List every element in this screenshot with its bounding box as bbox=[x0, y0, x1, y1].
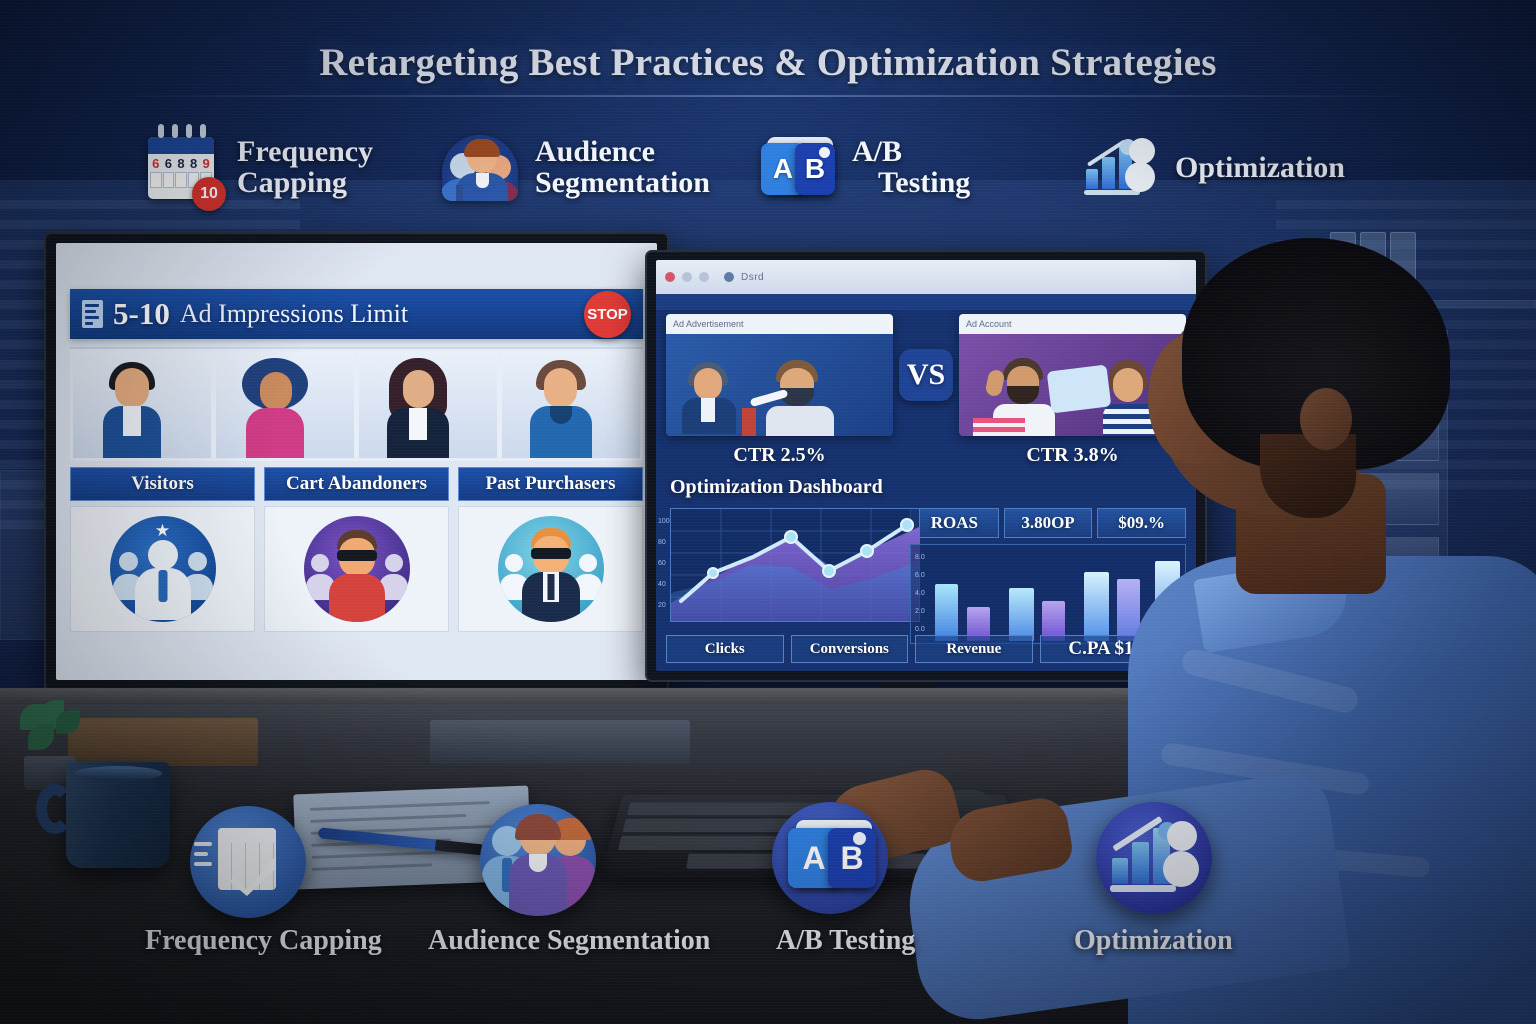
left-monitor: 5-10 Ad Impressions Limit STOP bbox=[44, 232, 669, 692]
calendar-digit: 6 bbox=[150, 156, 162, 171]
y-tick: 80 bbox=[658, 532, 670, 553]
bar bbox=[1009, 588, 1034, 641]
y-tick: 100 bbox=[658, 511, 670, 532]
ad-variant-a-image bbox=[666, 334, 893, 436]
y-tick: 60 bbox=[658, 553, 670, 574]
avatar-glasses-red-icon bbox=[304, 516, 410, 622]
bottom-label-optimization: Optimization bbox=[1074, 925, 1233, 957]
feature-label-line2: Segmentation bbox=[535, 168, 710, 199]
bottom-label-ab-testing: A/B Testing bbox=[776, 925, 915, 957]
browser-tab-label[interactable]: Dsrd bbox=[741, 272, 764, 283]
segment-avatar-cart-abandoners[interactable] bbox=[264, 506, 449, 632]
bottom-label-audience-segmentation: Audience Segmentation bbox=[428, 925, 710, 957]
y-tick: 8.0 bbox=[915, 549, 925, 567]
ctr-row: CTR 2.5% CTR 3.8% bbox=[666, 440, 1186, 470]
ab-letter-a: A bbox=[773, 153, 793, 185]
person-ear bbox=[1300, 388, 1352, 450]
stop-badge: STOP bbox=[584, 291, 631, 338]
feature-label-line2: Capping bbox=[237, 168, 373, 199]
frequency-cap-badge: 10 bbox=[192, 177, 226, 211]
metric-revenue[interactable]: Revenue bbox=[915, 635, 1033, 663]
metric-clicks[interactable]: Clicks bbox=[666, 635, 784, 663]
desk-box bbox=[430, 720, 690, 764]
title-band: Retargeting Best Practices & Optimizatio… bbox=[0, 18, 1536, 92]
calendar-dash-lines bbox=[194, 842, 212, 872]
bottom-label-frequency-capping: Frequency Capping bbox=[145, 925, 382, 957]
feature-frequency-capping[interactable]: 6 6 8 8 9 10 Frequ bbox=[140, 118, 373, 218]
browser-toolbar bbox=[656, 294, 1196, 310]
vs-badge: VS bbox=[899, 349, 953, 401]
feature-ab-testing[interactable]: A B A/B Testing bbox=[755, 118, 970, 218]
browser-dot-back[interactable] bbox=[682, 272, 692, 282]
feature-label-line1: Optimization bbox=[1175, 153, 1345, 184]
bar bbox=[1084, 572, 1109, 641]
dashboard-title: Optimization Dashboard bbox=[670, 476, 883, 499]
feature-label: A/B Testing bbox=[852, 137, 970, 199]
persona-strip bbox=[70, 347, 643, 461]
bottom-badge-row: A B bbox=[0, 796, 1536, 920]
right-monitor: Dsrd Ad Advertisement bbox=[645, 250, 1207, 682]
calendar-badge-icon: 6 6 8 8 9 10 bbox=[140, 129, 224, 207]
calendar-digit: 8 bbox=[175, 156, 187, 171]
browser-dot-red[interactable] bbox=[665, 272, 675, 282]
y-tick: 20 bbox=[658, 595, 670, 616]
bottom-label-row: Frequency Capping Audience Segmentation … bbox=[0, 925, 1536, 971]
metric-conversions[interactable]: Conversions bbox=[791, 635, 909, 663]
metric-row: Clicks Conversions Revenue C.PA $12.5 bbox=[666, 635, 1186, 663]
vs-divider: VS bbox=[893, 314, 959, 436]
desk-tray bbox=[68, 718, 258, 766]
optimization-gears-icon bbox=[1110, 826, 1202, 898]
line-chart-y-axis: 100 80 60 40 20 bbox=[658, 511, 670, 616]
impressions-limit-text: Ad Impressions Limit bbox=[180, 299, 408, 329]
badge-optimization[interactable] bbox=[1096, 802, 1212, 914]
kpi-value[interactable]: 3.80OP bbox=[1004, 508, 1093, 538]
feature-label-line2: Testing bbox=[852, 168, 970, 199]
persona-card bbox=[359, 352, 497, 458]
segment-avatar-visitors[interactable]: ★ bbox=[70, 506, 255, 632]
impressions-limit-value: 5-10 bbox=[113, 296, 170, 332]
impressions-doc-icon bbox=[82, 300, 103, 328]
bar-chart-y-axis: 8.0 6.0 4.0 2.0 0.0 bbox=[915, 549, 925, 639]
page-title: Retargeting Best Practices & Optimizatio… bbox=[0, 18, 1536, 85]
ab-letter-a: A bbox=[802, 840, 825, 877]
browser-chrome[interactable]: Dsrd bbox=[656, 260, 1196, 294]
ad-variant-a[interactable]: Ad Advertisement bbox=[666, 314, 893, 436]
feature-label: Optimization bbox=[1175, 153, 1345, 184]
badge-audience-segmentation[interactable] bbox=[480, 804, 596, 916]
y-tick: 4.0 bbox=[915, 585, 925, 603]
feature-label-line1: Audience bbox=[535, 137, 710, 168]
persona-card bbox=[502, 352, 640, 458]
ctr-variant-a: CTR 2.5% bbox=[666, 440, 893, 470]
performance-line-chart: 100 80 60 40 20 bbox=[670, 508, 920, 622]
feature-optimization[interactable]: Optimization bbox=[1078, 118, 1345, 218]
y-tick: 6.0 bbox=[915, 567, 925, 585]
ab-letter-b: B bbox=[805, 153, 825, 185]
segment-avatar-past-purchasers[interactable] bbox=[458, 506, 643, 632]
audience-group-icon bbox=[438, 129, 522, 207]
calendar-digit: 9 bbox=[200, 156, 212, 171]
ad-variant-a-header-text: Ad Advertisement bbox=[673, 319, 744, 329]
persona-card bbox=[73, 352, 211, 458]
ad-variant-b-header-text: Ad Account bbox=[966, 319, 1012, 329]
segment-avatar-row: ★ bbox=[70, 506, 643, 632]
badge-frequency-capping[interactable] bbox=[190, 806, 306, 918]
calendar-check-icon bbox=[218, 828, 276, 890]
bar bbox=[935, 584, 958, 641]
feature-label: Frequency Capping bbox=[237, 137, 373, 199]
feature-label-line1: Frequency bbox=[237, 137, 373, 168]
optimization-gears-icon bbox=[1078, 129, 1162, 207]
impressions-limit-header: 5-10 Ad Impressions Limit STOP bbox=[70, 289, 643, 339]
ad-variant-a-header: Ad Advertisement bbox=[666, 314, 893, 334]
infographic-canvas: Retargeting Best Practices & Optimizatio… bbox=[0, 0, 1536, 1024]
checkmark-icon bbox=[228, 852, 280, 896]
feature-label: Audience Segmentation bbox=[535, 137, 710, 199]
ab-cards-icon: A B bbox=[755, 129, 839, 207]
calendar-digit: 8 bbox=[188, 156, 200, 171]
kpi-roas[interactable]: ROAS bbox=[910, 508, 999, 538]
browser-dot-refresh[interactable] bbox=[724, 272, 734, 282]
browser-dot-forward[interactable] bbox=[699, 272, 709, 282]
persona-card bbox=[216, 352, 354, 458]
feature-label-line1: A/B bbox=[852, 137, 970, 168]
y-tick: 2.0 bbox=[915, 603, 925, 621]
segment-label-cart-abandoners[interactable]: Cart Abandoners bbox=[264, 467, 449, 501]
title-divider bbox=[108, 95, 1428, 97]
avatar-group-star-icon: ★ bbox=[110, 516, 216, 622]
feature-audience-segmentation[interactable]: Audience Segmentation bbox=[438, 118, 710, 218]
badge-ab-testing[interactable]: A B bbox=[772, 802, 888, 914]
calendar-digit: 6 bbox=[163, 156, 175, 171]
ab-comparison-row: Ad Advertisement bbox=[666, 314, 1186, 436]
avatar-suit-glasses-icon bbox=[498, 516, 604, 622]
left-screen[interactable]: 5-10 Ad Impressions Limit STOP bbox=[56, 243, 657, 680]
ab-letter-b: B bbox=[840, 840, 863, 877]
line-chart-svg bbox=[671, 509, 919, 621]
right-screen[interactable]: Dsrd Ad Advertisement bbox=[656, 260, 1196, 671]
segment-label-visitors[interactable]: Visitors bbox=[70, 467, 255, 501]
segment-label-past-purchasers[interactable]: Past Purchasers bbox=[458, 467, 643, 501]
segment-label-row: Visitors Cart Abandoners Past Purchasers bbox=[70, 467, 643, 501]
top-feature-row: 6 6 8 8 9 10 Frequ bbox=[0, 118, 1536, 218]
y-tick: 40 bbox=[658, 574, 670, 595]
